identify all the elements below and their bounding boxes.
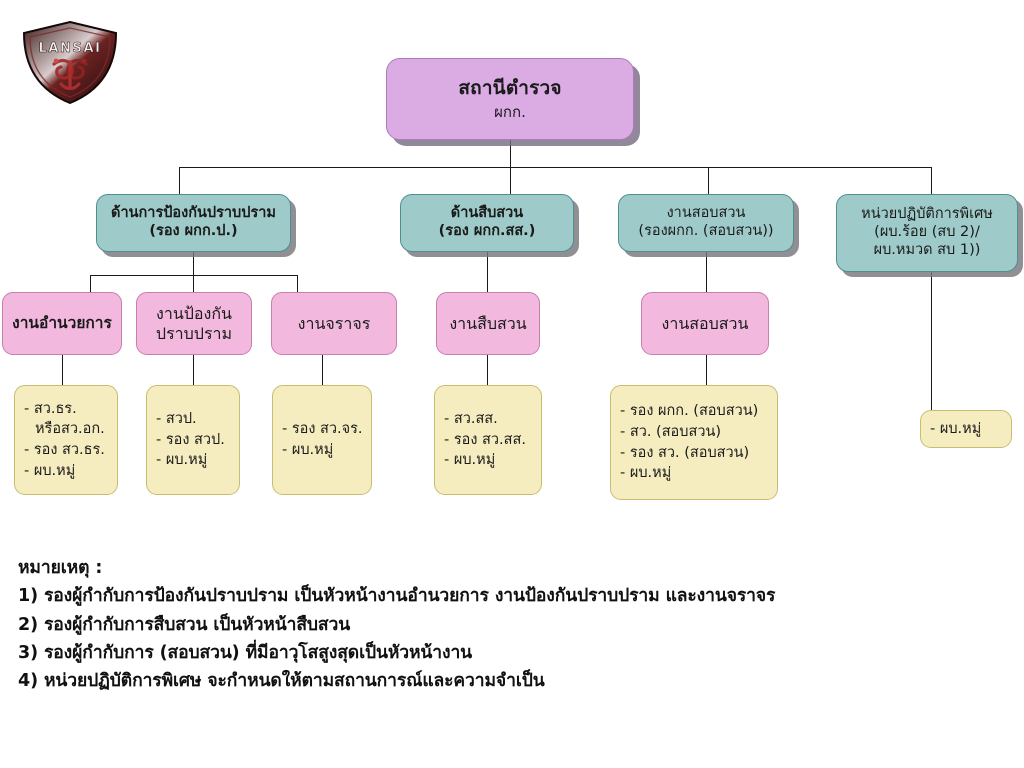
staff-line: - รอง สว.จร. <box>282 419 363 440</box>
node-head-special-line3: ผบ.หมวด สบ 1)) <box>874 242 981 260</box>
node-section-suppression-line1: งานป้องกัน <box>156 304 232 324</box>
connector-drop-intelligence <box>510 167 511 194</box>
staff-line: - ผบ.หมู่ <box>156 450 207 471</box>
node-head-inquiry-line1: งานสอบสวน <box>667 205 746 223</box>
staff-line: - ผบ.หมู่ <box>930 419 981 440</box>
node-staff-traffic[interactable]: - รอง สว.จร. - ผบ.หมู่ <box>272 385 372 495</box>
staff-line: - ผบ.หมู่ <box>620 463 671 484</box>
connector-prevention-to-suppression <box>193 275 194 292</box>
notes-block: หมายเหตุ : 1) รองผู้กำกับการป้องกันปราบป… <box>18 554 1008 696</box>
node-head-prevention[interactable]: ด้านการป้องกันปราบปราม (รอง ผกก.ป.) <box>96 194 291 252</box>
staff-line: - ผบ.หมู่ <box>282 440 333 461</box>
node-head-intelligence-line2: (รอง ผกก.สส.) <box>439 223 536 241</box>
node-staff-inquiry[interactable]: - รอง ผกก. (สอบสวน) - สว. (สอบสวน) - รอง… <box>610 385 778 500</box>
connector-prevention-stem <box>193 252 194 275</box>
node-head-inquiry[interactable]: งานสอบสวน (รองผกก. (สอบสวน)) <box>618 194 794 252</box>
node-root-subtitle: ผกก. <box>494 103 526 121</box>
connector-intelligence-to-investigation <box>487 252 488 292</box>
connector-suppression-to-staff <box>193 355 194 385</box>
lansai-shield-logo: LANSAI <box>16 18 124 106</box>
connector-investigation-to-staff <box>487 355 488 385</box>
connector-prevention-to-traffic <box>297 275 298 292</box>
connector-prevention-to-admin <box>90 275 91 292</box>
node-head-intelligence[interactable]: ด้านสืบสวน (รอง ผกก.สส.) <box>400 194 574 252</box>
connector-special-to-leaf <box>931 272 932 410</box>
staff-line: - สว.ธร. <box>24 399 77 420</box>
node-staff-special[interactable]: - ผบ.หมู่ <box>920 410 1012 448</box>
node-section-investigation-title: งานสืบสวน <box>449 314 526 334</box>
connector-inquiry-to-staff <box>706 355 707 385</box>
logo-text: LANSAI <box>38 41 101 56</box>
connector-admin-to-staff <box>62 355 63 385</box>
connector-main-bus <box>179 167 931 168</box>
node-section-admin[interactable]: งานอำนวยการ <box>2 292 122 355</box>
node-head-special-unit[interactable]: หน่วยปฏิบัติการพิเศษ (ผบ.ร้อย (สบ 2)/ ผบ… <box>836 194 1018 272</box>
staff-line: - ผบ.หมู่ <box>24 461 75 482</box>
node-head-prevention-line1: ด้านการป้องกันปราบปราม <box>111 205 276 223</box>
note-item-2: 2) รองผู้กำกับการสืบสวน เป็นหัวหน้าสืบสว… <box>18 611 1008 639</box>
connector-drop-special <box>931 167 932 194</box>
org-chart-canvas: LANSAI สถานีตำรวจ <box>0 0 1024 768</box>
node-staff-investigation[interactable]: - สว.สส. - รอง สว.สส. - ผบ.หมู่ <box>434 385 542 495</box>
node-head-prevention-line2: (รอง ผกก.ป.) <box>149 223 237 241</box>
staff-line: - รอง สว.ธร. <box>24 440 105 461</box>
node-root-title: สถานีตำรวจ <box>458 77 561 100</box>
node-staff-suppression[interactable]: - สวป. - รอง สวป. - ผบ.หมู่ <box>146 385 240 495</box>
staff-line: - รอง สวป. <box>156 430 225 451</box>
staff-line: - รอง สว.สส. <box>444 430 526 451</box>
logo-shield-svg: LANSAI <box>16 18 124 106</box>
node-section-suppression[interactable]: งานป้องกัน ปราบปราม <box>136 292 252 355</box>
connector-root-down <box>510 140 511 167</box>
staff-line: หรือสว.อก. <box>24 419 105 440</box>
staff-line: - ผบ.หมู่ <box>444 450 495 471</box>
node-head-special-line2: (ผบ.ร้อย (สบ 2)/ <box>874 224 980 242</box>
node-section-suppression-line2: ปราบปราม <box>156 324 232 344</box>
staff-line: - สว. (สอบสวน) <box>620 422 721 443</box>
node-head-inquiry-line2: (รองผกก. (สอบสวน)) <box>638 223 773 241</box>
node-section-traffic[interactable]: งานจราจร <box>271 292 397 355</box>
note-item-3: 3) รองผู้กำกับการ (สอบสวน) ที่มีอาวุโสสู… <box>18 639 1008 667</box>
notes-heading: หมายเหตุ : <box>18 554 1008 582</box>
node-section-traffic-title: งานจราจร <box>298 314 371 334</box>
staff-line: - รอง สว. (สอบสวน) <box>620 443 749 464</box>
node-section-admin-title: งานอำนวยการ <box>12 314 112 333</box>
node-head-intelligence-line1: ด้านสืบสวน <box>451 205 523 223</box>
node-staff-admin[interactable]: - สว.ธร. หรือสว.อก. - รอง สว.ธร. - ผบ.หม… <box>14 385 118 495</box>
staff-line: - รอง ผกก. (สอบสวน) <box>620 401 758 422</box>
connector-traffic-to-staff <box>322 355 323 385</box>
connector-drop-prevention <box>179 167 180 194</box>
node-section-inquiry[interactable]: งานสอบสวน <box>641 292 769 355</box>
connector-inquiry-to-section <box>706 252 707 292</box>
connector-drop-inquiry <box>708 167 709 194</box>
note-item-1: 1) รองผู้กำกับการป้องกันปราบปราม เป็นหัว… <box>18 582 1008 610</box>
note-item-4: 4) หน่วยปฏิบัติการพิเศษ จะกำหนดให้ตามสถา… <box>18 667 1008 695</box>
node-root-police-station[interactable]: สถานีตำรวจ ผกก. <box>386 58 634 140</box>
node-section-inquiry-title: งานสอบสวน <box>662 314 749 334</box>
staff-line: - สวป. <box>156 409 197 430</box>
node-section-investigation[interactable]: งานสืบสวน <box>436 292 540 355</box>
staff-line: - สว.สส. <box>444 409 498 430</box>
node-head-special-line1: หน่วยปฏิบัติการพิเศษ <box>861 206 993 224</box>
